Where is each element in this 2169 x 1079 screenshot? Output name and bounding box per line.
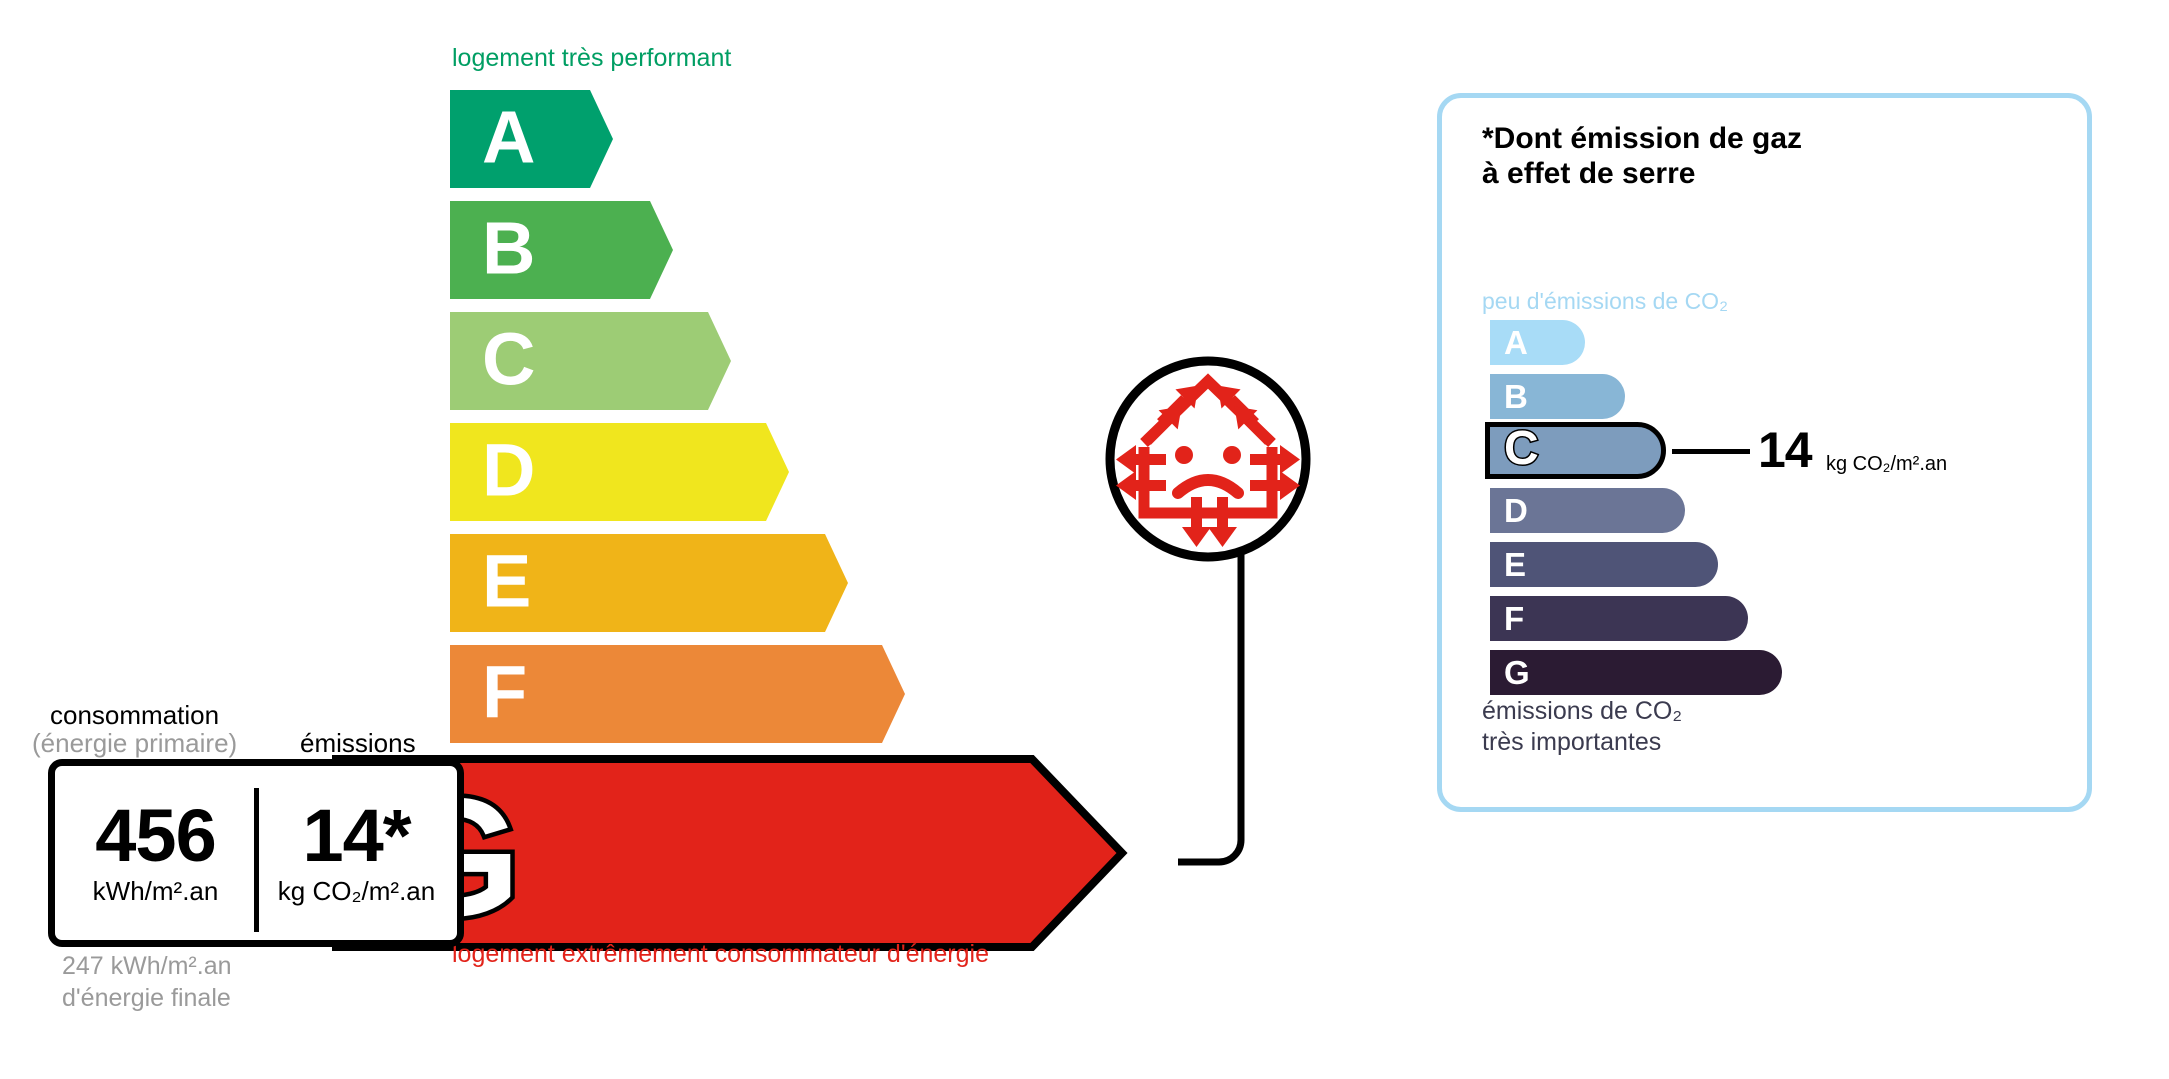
co2-band-d[interactable]: D xyxy=(1490,488,1685,533)
value-box-divider xyxy=(254,788,259,932)
energy-band-letter: D xyxy=(482,434,535,508)
energy-band-c: C xyxy=(450,312,731,410)
energy-band-letter: C xyxy=(482,323,535,397)
sad-house-heat-loss-icon xyxy=(1104,355,1312,563)
energy-performance-chart: logement très performant ABCDEF G 456 kW… xyxy=(0,0,1300,1079)
consumption-cell: 456 kWh/m².an xyxy=(55,766,256,940)
co2-band-e[interactable]: E xyxy=(1490,542,1718,587)
co2-band-letter: F xyxy=(1504,601,1524,634)
emission-cell: 14* kg CO₂/m².an xyxy=(256,766,457,940)
co2-band-letter: E xyxy=(1504,547,1526,580)
co2-band-g[interactable]: G xyxy=(1490,650,1782,695)
consumption-value: 456 xyxy=(95,801,215,871)
energy-band-b: B xyxy=(450,201,673,299)
co2-band-f[interactable]: F xyxy=(1490,596,1748,641)
emission-value: 14* xyxy=(302,801,410,871)
co2-band-letter: C xyxy=(1504,425,1539,473)
energy-band-f: F xyxy=(450,645,905,743)
co2-value-unit: kg CO₂/m².an xyxy=(1826,454,1947,474)
energy-band-letter: B xyxy=(482,212,535,286)
co2-band-letter: G xyxy=(1504,655,1530,688)
final-energy-footnote: 247 kWh/m².and'énergie finale xyxy=(62,950,232,1014)
emission-unit: kg CO₂/m².an xyxy=(278,877,435,906)
co2-panel-title: *Dont émission de gazà effet de serre xyxy=(1482,121,1802,192)
co2-band-letter: A xyxy=(1504,325,1528,358)
co2-band-c-selected[interactable]: C xyxy=(1485,422,1666,479)
co2-band-letter: B xyxy=(1504,379,1528,412)
consumption-unit: kWh/m².an xyxy=(93,877,219,906)
label-emissions: émissions xyxy=(300,728,416,759)
co2-emissions-panel: *Dont émission de gazà effet de serre pe… xyxy=(1437,93,2092,812)
medallion-connector xyxy=(1100,540,1320,900)
co2-top-caption: peu d'émissions de CO₂ xyxy=(1482,288,1728,315)
co2-band-a[interactable]: A xyxy=(1490,320,1585,365)
energy-band-letter: E xyxy=(482,545,531,619)
energy-bottom-caption: logement extrêmement consommateur d'éner… xyxy=(452,940,989,969)
co2-value: 14 xyxy=(1758,425,1812,475)
co2-bottom-caption: émissions de CO₂très importantes xyxy=(1482,696,1682,757)
energy-band-a: A xyxy=(450,90,613,188)
energy-band-d: D xyxy=(450,423,789,521)
energy-top-caption: logement très performant xyxy=(452,44,731,73)
co2-band-b[interactable]: B xyxy=(1490,374,1625,419)
energy-value-box: 456 kWh/m².an 14* kg CO₂/m².an xyxy=(48,759,464,947)
co2-band-letter: D xyxy=(1504,493,1528,526)
co2-leader-line xyxy=(1672,449,1750,454)
label-energie-primaire: (énergie primaire) xyxy=(32,728,237,759)
energy-band-e: E xyxy=(450,534,848,632)
energy-band-letter: F xyxy=(482,656,527,730)
label-consommation: consommation xyxy=(50,700,219,731)
energy-band-letter: A xyxy=(482,101,535,175)
